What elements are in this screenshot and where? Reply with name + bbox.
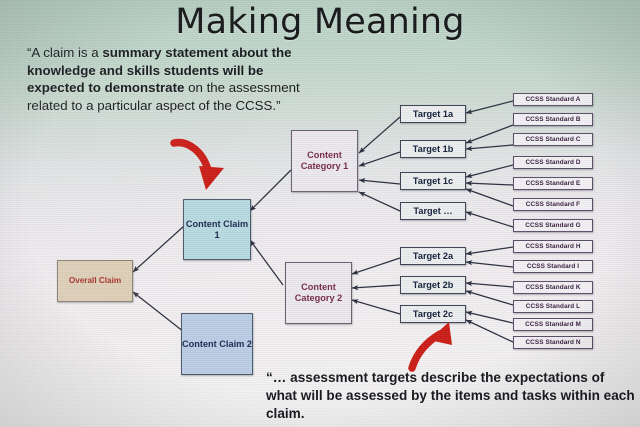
quote-lead: “A claim is a — [27, 45, 102, 60]
assessment-target-quote: “… assessment targets describe the expec… — [266, 369, 638, 423]
presentation-slide: Making Meaning “A claim is a summary sta… — [0, 0, 640, 427]
node-ccss-standard-l[interactable]: CCSS Standard L — [513, 300, 593, 313]
red-arrow-to-target-2c — [412, 322, 452, 368]
node-ccss-standard-n[interactable]: CCSS Standard N — [513, 336, 593, 349]
node-ccss-standard-h[interactable]: CCSS Standard H — [513, 240, 593, 253]
node-ccss-standard-e[interactable]: CCSS Standard E — [513, 177, 593, 190]
node-content-category-1[interactable]: Content Category 1 — [291, 130, 358, 192]
node-ccss-standard-a[interactable]: CCSS Standard A — [513, 93, 593, 106]
node-overall-claim[interactable]: Overall Claim — [57, 260, 133, 302]
node-target-1-ellipsis[interactable]: Target … — [400, 202, 466, 220]
node-ccss-standard-k[interactable]: CCSS Standard K — [513, 281, 593, 294]
node-content-category-2[interactable]: Content Category 2 — [285, 262, 352, 324]
node-ccss-standard-m[interactable]: CCSS Standard M — [513, 318, 593, 331]
node-target-1b[interactable]: Target 1b — [400, 140, 466, 158]
claim-definition-quote: “A claim is a summary statement about th… — [27, 44, 317, 115]
node-content-claim-1[interactable]: Content Claim 1 — [183, 199, 251, 260]
node-target-2b[interactable]: Target 2b — [400, 276, 466, 294]
red-arrow-to-content-claim-1 — [174, 143, 224, 190]
node-target-2a[interactable]: Target 2a — [400, 247, 466, 265]
node-target-2c[interactable]: Target 2c — [400, 305, 466, 323]
node-ccss-standard-g[interactable]: CCSS Standard G — [513, 219, 593, 232]
page-title: Making Meaning — [0, 2, 640, 42]
node-ccss-standard-f[interactable]: CCSS Standard F — [513, 198, 593, 211]
node-target-1c[interactable]: Target 1c — [400, 172, 466, 190]
node-target-1a[interactable]: Target 1a — [400, 105, 466, 123]
node-ccss-standard-d[interactable]: CCSS Standard D — [513, 156, 593, 169]
node-ccss-standard-i[interactable]: CCSS Standard I — [513, 260, 593, 273]
node-content-claim-2[interactable]: Content Claim 2 — [181, 313, 253, 375]
node-ccss-standard-c[interactable]: CCSS Standard C — [513, 133, 593, 146]
node-ccss-standard-b[interactable]: CCSS Standard B — [513, 113, 593, 126]
